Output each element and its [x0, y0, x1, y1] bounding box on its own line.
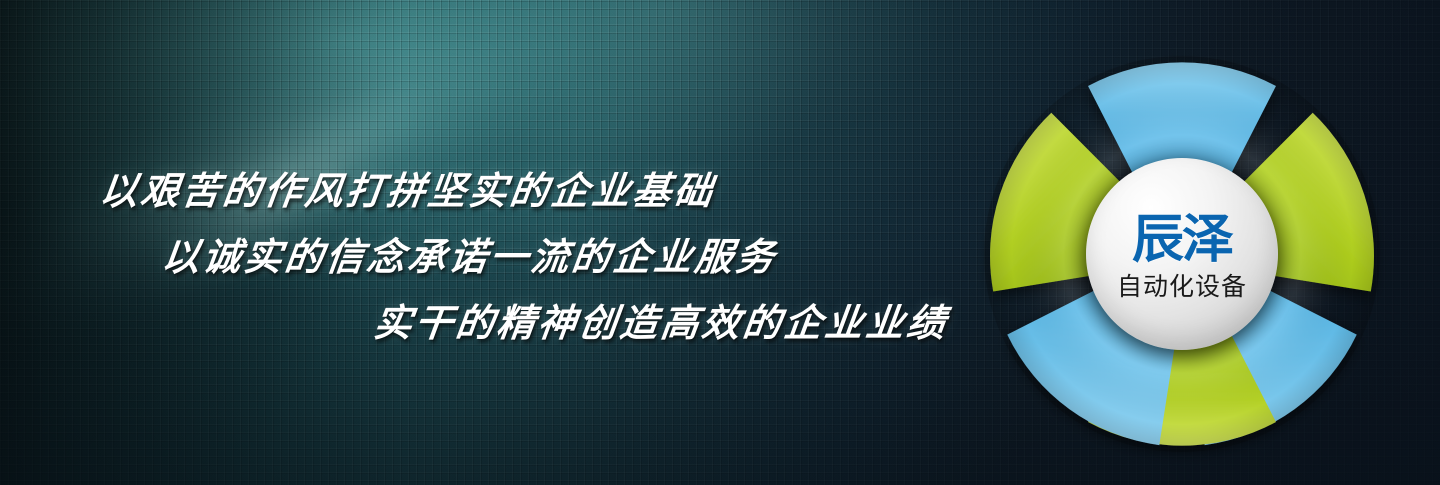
- emblem-core-disc: 辰泽 自动化设备: [1086, 158, 1278, 350]
- logo-wordmark: 辰泽: [1132, 214, 1232, 266]
- hero-banner: 以艰苦的作风打拼坚实的企业基础 以诚实的信念承诺一流的企业服务 实干的精神创造高…: [0, 0, 1440, 485]
- slogan-line-3: 实干的精神创造高效的企业业绩: [0, 290, 984, 356]
- slogan-line-1: 以艰苦的作风打拼坚实的企业基础: [0, 158, 984, 224]
- company-emblem: 辰泽 自动化设备: [984, 56, 1380, 452]
- slogan-block: 以艰苦的作风打拼坚实的企业基础 以诚实的信念承诺一流的企业服务 实干的精神创造高…: [0, 158, 980, 356]
- slogan-line-2: 以诚实的信念承诺一流的企业服务: [0, 224, 984, 290]
- logo-subtitle: 自动化设备: [1117, 274, 1247, 299]
